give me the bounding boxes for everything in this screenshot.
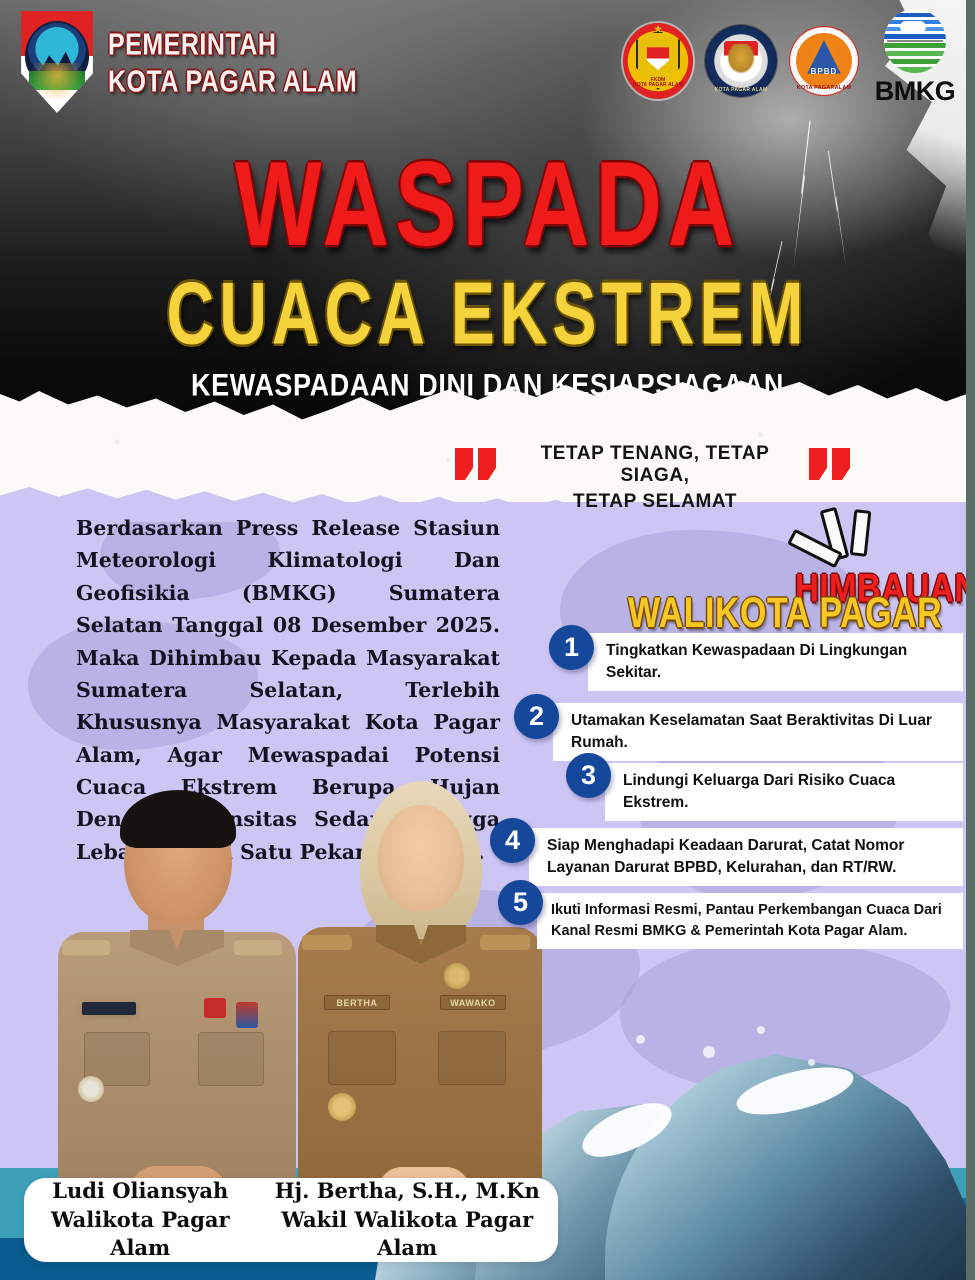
poster-header: PEMERINTAH KOTA PAGAR ALAM FKDM KOTA PAG… — [0, 0, 975, 122]
slogan-line-1: TETAP TENANG, TETAP SIAGA, — [507, 443, 803, 487]
vice-mayor-role: Wakil Walikota Pagar Alam — [256, 1206, 558, 1263]
vice-mayor-name-tag: BERTHA — [324, 995, 390, 1010]
list-item-number: 4 — [490, 818, 535, 863]
weather-alert-poster: PEMERINTAH KOTA PAGAR ALAM FKDM KOTA PAG… — [0, 0, 975, 1280]
fkdm-caption-line2: KOTA PAGAR ALAM — [630, 83, 686, 89]
mayor-medal-icon — [78, 1076, 104, 1102]
list-item-text: Siap Menghadapi Keadaan Darurat, Catat N… — [547, 835, 953, 879]
page-title: WASPADA — [0, 150, 975, 260]
kesbangpol-garuda-logo-icon: KOTA PAGAR ALAM — [705, 25, 777, 97]
list-item-card[interactable]: Tingkatkan Kewaspadaan Di Lingkungan Sek… — [588, 633, 963, 691]
gov-line-1: PEMERINTAH — [108, 30, 357, 61]
bpbd-logo-icon: BPBD KOTA PAGARALAM — [789, 26, 859, 96]
list-item-card[interactable]: Utamakan Keselamatan Saat Beraktivitas D… — [553, 703, 963, 761]
list-item-number: 2 — [514, 694, 559, 739]
vice-mayor-crest-icon — [444, 963, 470, 989]
officials-nameplate: Ludi Oliansyah Walikota Pagar Alam Hj. B… — [24, 1178, 558, 1262]
quote-open-icon — [455, 448, 501, 482]
list-item-number: 5 — [498, 880, 543, 925]
pagar-alam-city-crest-icon — [18, 9, 96, 113]
vice-mayor-medal-icon — [328, 1093, 356, 1121]
hero-title-block: WASPADA CUACA EKSTREM KEWASPADAAN DINI D… — [0, 150, 975, 398]
list-item-text: Utamakan Keselamatan Saat Beraktivitas D… — [571, 710, 953, 754]
vice-mayor-role-tag: WAWAKO — [440, 995, 506, 1010]
slogan-quote: TETAP TENANG, TETAP SIAGA, TETAP SELAMAT — [455, 443, 855, 513]
government-wordmark: PEMERINTAH KOTA PAGAR ALAM — [108, 30, 357, 92]
gov-line-2: KOTA PAGAR ALAM — [108, 67, 357, 98]
quote-close-icon — [809, 448, 855, 482]
mayor-name: Ludi Oliansyah — [24, 1177, 256, 1205]
list-item-text: Ikuti Informasi Resmi, Pantau Perkembang… — [551, 900, 955, 941]
list-item-number: 1 — [549, 625, 594, 670]
bpbd-caption-line2: KOTA PAGARALAM — [789, 85, 859, 91]
list-item-card[interactable]: Siap Menghadapi Keadaan Darurat, Catat N… — [529, 828, 963, 886]
list-item-number: 3 — [566, 753, 611, 798]
mayor-photo — [52, 780, 302, 1220]
list-item-card[interactable]: Lindungi Keluarga Dari Risiko Cuaca Ekst… — [605, 763, 963, 821]
list-item-text: Tingkatkan Kewaspadaan Di Lingkungan Sek… — [606, 640, 953, 684]
bpbd-caption-line1: BPBD — [789, 67, 859, 76]
officials-photo: BERTHA WAWAKO — [22, 770, 542, 1220]
vice-mayor-name: Hj. Bertha, S.H., M.Kn — [256, 1177, 558, 1205]
header-left-group: PEMERINTAH KOTA PAGAR ALAM — [18, 9, 357, 113]
mayor-role: Walikota Pagar Alam — [24, 1206, 256, 1263]
list-item-text: Lindungi Keluarga Dari Risiko Cuaca Ekst… — [623, 770, 953, 814]
mayor-name-tag — [82, 1002, 136, 1015]
bmkg-logo-icon: BMKG — [871, 9, 959, 113]
garuda-caption: KOTA PAGAR ALAM — [705, 87, 777, 93]
agency-logo-group: FKDM KOTA PAGAR ALAM KOTA PAGAR ALAM BPB… — [623, 9, 959, 113]
page-subtitle: CUACA EKSTREM — [0, 271, 975, 355]
list-item-card[interactable]: Ikuti Informasi Resmi, Pantau Perkembang… — [537, 893, 963, 949]
vice-mayor-credentials: Hj. Bertha, S.H., M.Kn Wakil Walikota Pa… — [256, 1177, 558, 1262]
bmkg-wordmark: BMKG — [875, 76, 956, 107]
fkdm-kota-pagar-alam-logo-icon: FKDM KOTA PAGAR ALAM — [623, 23, 693, 99]
mayor-credentials: Ludi Oliansyah Walikota Pagar Alam — [24, 1177, 256, 1262]
